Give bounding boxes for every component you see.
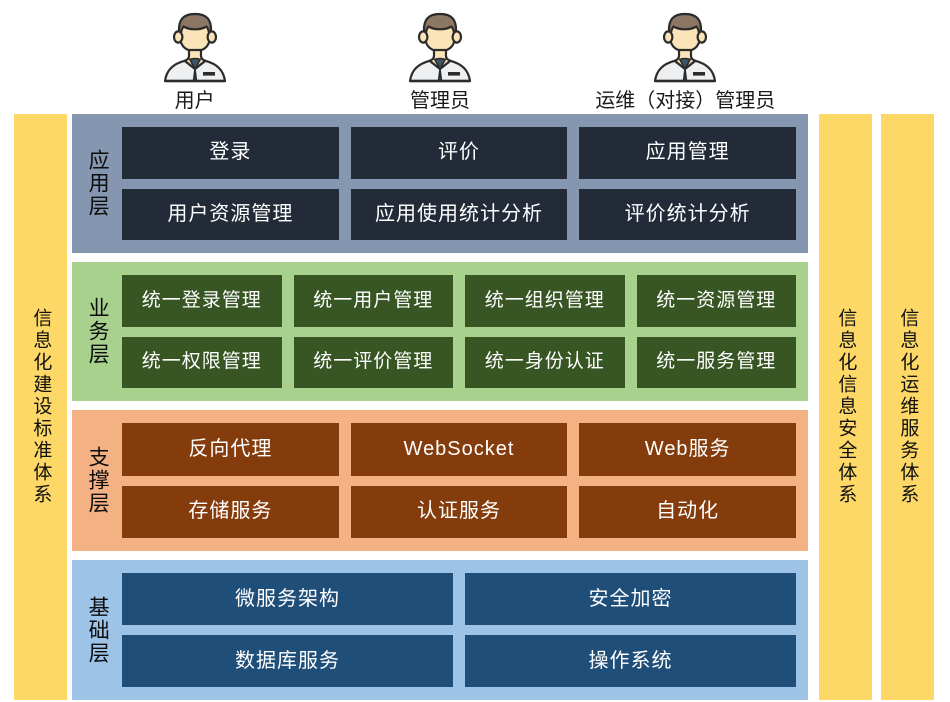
- module-security-encryption[interactable]: 安全加密: [465, 573, 796, 625]
- layer-row: 微服务架构 安全加密: [122, 573, 796, 625]
- module-unified-org-management[interactable]: 统一组织管理: [465, 275, 625, 327]
- module-unified-user-management[interactable]: 统一用户管理: [294, 275, 454, 327]
- layer-label-text: 业务层: [85, 297, 109, 366]
- layer-business-label: 业务层: [72, 262, 122, 401]
- layer-row: 登录 评价 应用管理: [122, 127, 796, 179]
- module-websocket[interactable]: WebSocket: [351, 423, 568, 476]
- module-unified-permission-management[interactable]: 统一权限管理: [122, 337, 282, 389]
- module-operating-system[interactable]: 操作系统: [465, 635, 796, 687]
- layer-support-grid: 反向代理 WebSocket Web服务 存储服务 认证服务 自动化: [122, 410, 808, 551]
- actors-row: 用户 管理员 运维（对接）管理员: [72, 0, 808, 112]
- module-app-management[interactable]: 应用管理: [579, 127, 796, 179]
- layer-label-text: 应用层: [85, 149, 109, 218]
- person-avatar-icon: [158, 9, 232, 89]
- module-automation[interactable]: 自动化: [579, 486, 796, 539]
- layer-application-grid: 登录 评价 应用管理 用户资源管理 应用使用统计分析 评价统计分析: [122, 114, 808, 253]
- module-unified-evaluation-management[interactable]: 统一评价管理: [294, 337, 454, 389]
- module-evaluation-statistics[interactable]: 评价统计分析: [579, 189, 796, 241]
- module-user-resource-management[interactable]: 用户资源管理: [122, 189, 339, 241]
- module-unified-identity-authentication[interactable]: 统一身份认证: [465, 337, 625, 389]
- actor-label: 运维（对接）管理员: [595, 90, 775, 112]
- layer-business: 业务层 统一登录管理 统一用户管理 统一组织管理 统一资源管理 统一权限管理 统…: [72, 262, 808, 401]
- layer-row: 反向代理 WebSocket Web服务: [122, 423, 796, 476]
- module-login[interactable]: 登录: [122, 127, 339, 179]
- person-avatar-icon: [648, 9, 722, 89]
- layer-infrastructure-label: 基础层: [72, 560, 122, 700]
- module-unified-login-management[interactable]: 统一登录管理: [122, 275, 282, 327]
- layer-label-text: 支撑层: [85, 446, 109, 515]
- module-microservice-architecture[interactable]: 微服务架构: [122, 573, 453, 625]
- layer-gap: [72, 401, 808, 410]
- sidebar-standards-system: 信息化建设标准体系: [14, 114, 67, 700]
- layer-support-label: 支撑层: [72, 410, 122, 551]
- layer-infrastructure: 基础层 微服务架构 安全加密 数据库服务 操作系统: [72, 560, 808, 700]
- module-web-service[interactable]: Web服务: [579, 423, 796, 476]
- actor-label: 用户: [175, 90, 215, 112]
- sidebar-ops-label: 信息化运维服务体系: [896, 308, 920, 506]
- layer-support: 支撑层 反向代理 WebSocket Web服务 存储服务 认证服务 自动化: [72, 410, 808, 551]
- layer-application: 应用层 登录 评价 应用管理 用户资源管理 应用使用统计分析 评价统计分析: [72, 114, 808, 253]
- layer-label-text: 基础层: [85, 596, 109, 665]
- layer-application-label: 应用层: [72, 114, 122, 253]
- layer-row: 统一权限管理 统一评价管理 统一身份认证 统一服务管理: [122, 337, 796, 389]
- module-unified-resource-management[interactable]: 统一资源管理: [637, 275, 797, 327]
- module-authentication-service[interactable]: 认证服务: [351, 486, 568, 539]
- actor-label: 管理员: [410, 90, 470, 112]
- layer-infrastructure-grid: 微服务架构 安全加密 数据库服务 操作系统: [122, 560, 808, 700]
- sidebar-ops-service-system: 信息化运维服务体系: [881, 114, 934, 700]
- layer-row: 用户资源管理 应用使用统计分析 评价统计分析: [122, 189, 796, 241]
- layer-business-grid: 统一登录管理 统一用户管理 统一组织管理 统一资源管理 统一权限管理 统一评价管…: [122, 262, 808, 401]
- layer-row: 存储服务 认证服务 自动化: [122, 486, 796, 539]
- module-unified-service-management[interactable]: 统一服务管理: [637, 337, 797, 389]
- person-avatar-icon: [403, 9, 477, 89]
- sidebar-security-label: 信息化信息安全体系: [834, 308, 858, 506]
- architecture-layer-stack: 应用层 登录 评价 应用管理 用户资源管理 应用使用统计分析 评价统计分析 业务…: [72, 114, 808, 700]
- sidebar-standards-label: 信息化建设标准体系: [29, 308, 53, 506]
- actor-ops-administrator: 运维（对接）管理员: [580, 9, 790, 112]
- layer-gap: [72, 551, 808, 560]
- layer-row: 数据库服务 操作系统: [122, 635, 796, 687]
- layer-gap: [72, 253, 808, 262]
- module-evaluation[interactable]: 评价: [351, 127, 568, 179]
- module-storage-service[interactable]: 存储服务: [122, 486, 339, 539]
- module-app-usage-statistics[interactable]: 应用使用统计分析: [351, 189, 568, 241]
- actor-user: 用户: [90, 9, 300, 112]
- actor-administrator: 管理员: [335, 9, 545, 112]
- module-reverse-proxy[interactable]: 反向代理: [122, 423, 339, 476]
- module-database-service[interactable]: 数据库服务: [122, 635, 453, 687]
- layer-row: 统一登录管理 统一用户管理 统一组织管理 统一资源管理: [122, 275, 796, 327]
- sidebar-security-system: 信息化信息安全体系: [819, 114, 872, 700]
